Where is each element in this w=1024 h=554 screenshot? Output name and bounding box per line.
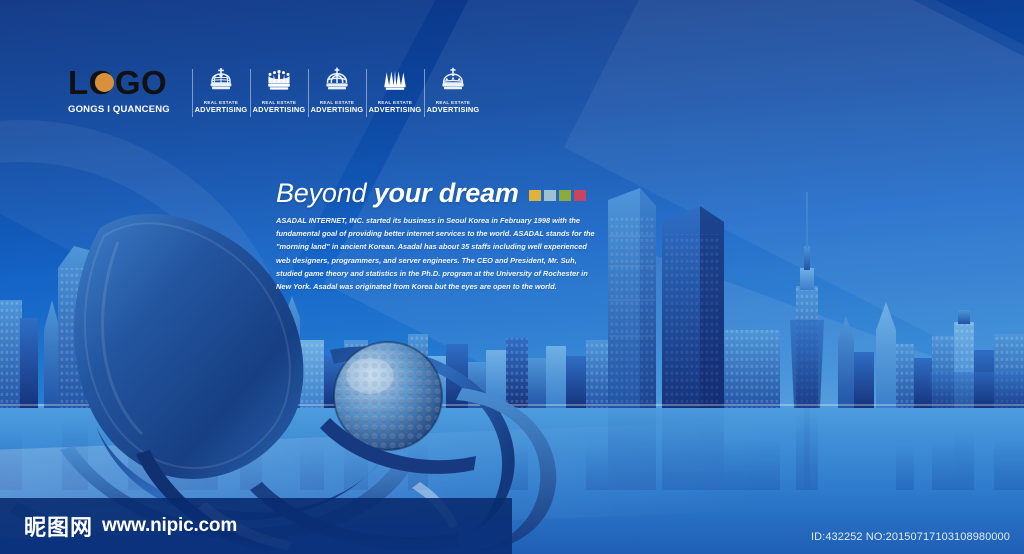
crown-points-icon <box>380 67 410 97</box>
watermark-chinese: 昵图网 <box>24 510 93 542</box>
logo-text: LOGO <box>68 64 167 101</box>
poster-canvas: LOGO GONGS I QUANCENG <box>0 0 1024 554</box>
crown-arches-badge[interactable]: REAL ESTATE ADVERTISING <box>308 67 366 114</box>
crown-spikes-badge[interactable]: REAL ESTATE ADVERTISING <box>250 67 308 114</box>
color-squares <box>529 190 586 201</box>
crown-points-badge[interactable]: REAL ESTATE ADVERTISING <box>366 67 424 114</box>
logo-lockup[interactable]: LOGO GONGS I QUANCENG <box>68 66 180 115</box>
headline-emphasis: your dream <box>374 178 519 208</box>
crown-globe-badge[interactable]: REAL ESTATE ADVERTISING <box>192 67 250 114</box>
crown-jeweled-icon <box>438 67 468 97</box>
watermark-bar: 昵图网 www.nipic.com <box>0 498 512 554</box>
body-paragraph: ASADAL INTERNET, INC. started its busine… <box>276 214 598 293</box>
headline-lead: Beyond <box>276 178 374 208</box>
headline-block: Beyond your dream <box>276 178 586 209</box>
color-square-2 <box>544 190 556 201</box>
crown-jeweled-badge[interactable]: REAL ESTATE ADVERTISING <box>424 67 482 114</box>
headline-title: Beyond your dream <box>276 178 519 209</box>
badge-line-2: ADVERTISING <box>427 105 480 114</box>
color-square-3 <box>559 190 571 201</box>
abstract-sculpture <box>0 150 660 554</box>
badge-line-2: ADVERTISING <box>311 105 364 114</box>
crown-arches-icon <box>322 67 352 97</box>
brand-header: LOGO GONGS I QUANCENG <box>68 66 482 115</box>
logo-subtitle: GONGS I QUANCENG <box>68 104 180 115</box>
color-square-4 <box>574 190 586 201</box>
badge-line-2: ADVERTISING <box>195 105 248 114</box>
logo-wordmark: LOGO <box>68 66 180 99</box>
asset-id-text: ID:432252 NO:20150717103108980000 <box>811 531 1010 543</box>
logo-dot-icon <box>95 73 114 92</box>
color-square-1 <box>529 190 541 201</box>
badge-row: REAL ESTATE ADVERTISING <box>192 67 482 114</box>
badge-line-2: ADVERTISING <box>369 105 422 114</box>
crown-globe-icon <box>206 67 236 97</box>
crown-spikes-icon <box>264 67 294 97</box>
watermark-url[interactable]: www.nipic.com <box>102 515 237 537</box>
badge-line-2: ADVERTISING <box>253 105 306 114</box>
asset-id-bar: ID:432252 NO:20150717103108980000 <box>811 520 1024 554</box>
